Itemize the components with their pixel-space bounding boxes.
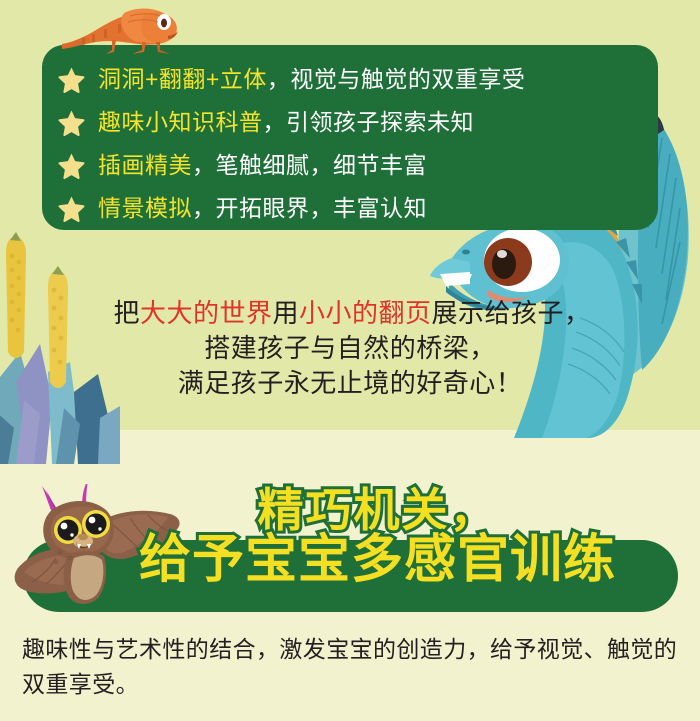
promo-page: 洞洞+翻翻+立体，视觉与触觉的双重享受 趣味小知识科普，引领孩子探索未知 插画精… <box>0 0 700 721</box>
feature-panel: 洞洞+翻翻+立体，视觉与触觉的双重享受 趣味小知识科普，引领孩子探索未知 插画精… <box>42 45 658 230</box>
list-item-label: 洞洞+翻翻+立体，视觉与触觉的双重享受 <box>98 68 525 91</box>
star-icon <box>58 67 85 94</box>
bottom-paragraph: 趣味性与艺术性的结合，激发宝宝的创造力，给予视觉、触觉的双重享受。 <box>22 632 684 702</box>
list-item-label: 插画精美，笔触细腻，细节丰富 <box>98 154 427 177</box>
banner-title: 精巧机关， 给予宝宝多感官训练 <box>0 485 700 585</box>
orange-lizard-illustration <box>60 0 180 54</box>
list-item: 趣味小知识科普，引领孩子探索未知 <box>58 102 658 143</box>
list-item: 情景模拟，开拓眼界，丰富认知 <box>58 188 658 229</box>
star-icon <box>58 196 85 223</box>
feature-bullet-list: 洞洞+翻翻+立体，视觉与触觉的双重享受 趣味小知识科普，引领孩子探索未知 插画精… <box>42 45 658 230</box>
list-item: 插画精美，笔触细腻，细节丰富 <box>58 145 658 186</box>
star-icon <box>58 110 85 137</box>
star-icon <box>58 153 85 180</box>
mid-paragraph-line-2: 搭建孩子与自然的桥梁， <box>0 331 700 366</box>
mid-paragraph-line-3: 满足孩子永无止境的好奇心！ <box>0 366 700 401</box>
banner-title-line-1: 精巧机关， <box>258 484 498 536</box>
list-item-label: 趣味小知识科普，引领孩子探索未知 <box>98 111 474 134</box>
list-item-label: 情景模拟，开拓眼界，丰富认知 <box>98 197 427 220</box>
banner-title-line-2: 给予宝宝多感官训练 <box>55 535 700 585</box>
mid-paragraph: 把大大的世界用小小的翻页展示给孩子， 搭建孩子与自然的桥梁， 满足孩子永无止境的… <box>0 296 700 401</box>
list-item: 洞洞+翻翻+立体，视觉与触觉的双重享受 <box>58 59 658 100</box>
mid-paragraph-line-1: 把大大的世界用小小的翻页展示给孩子， <box>0 296 700 331</box>
